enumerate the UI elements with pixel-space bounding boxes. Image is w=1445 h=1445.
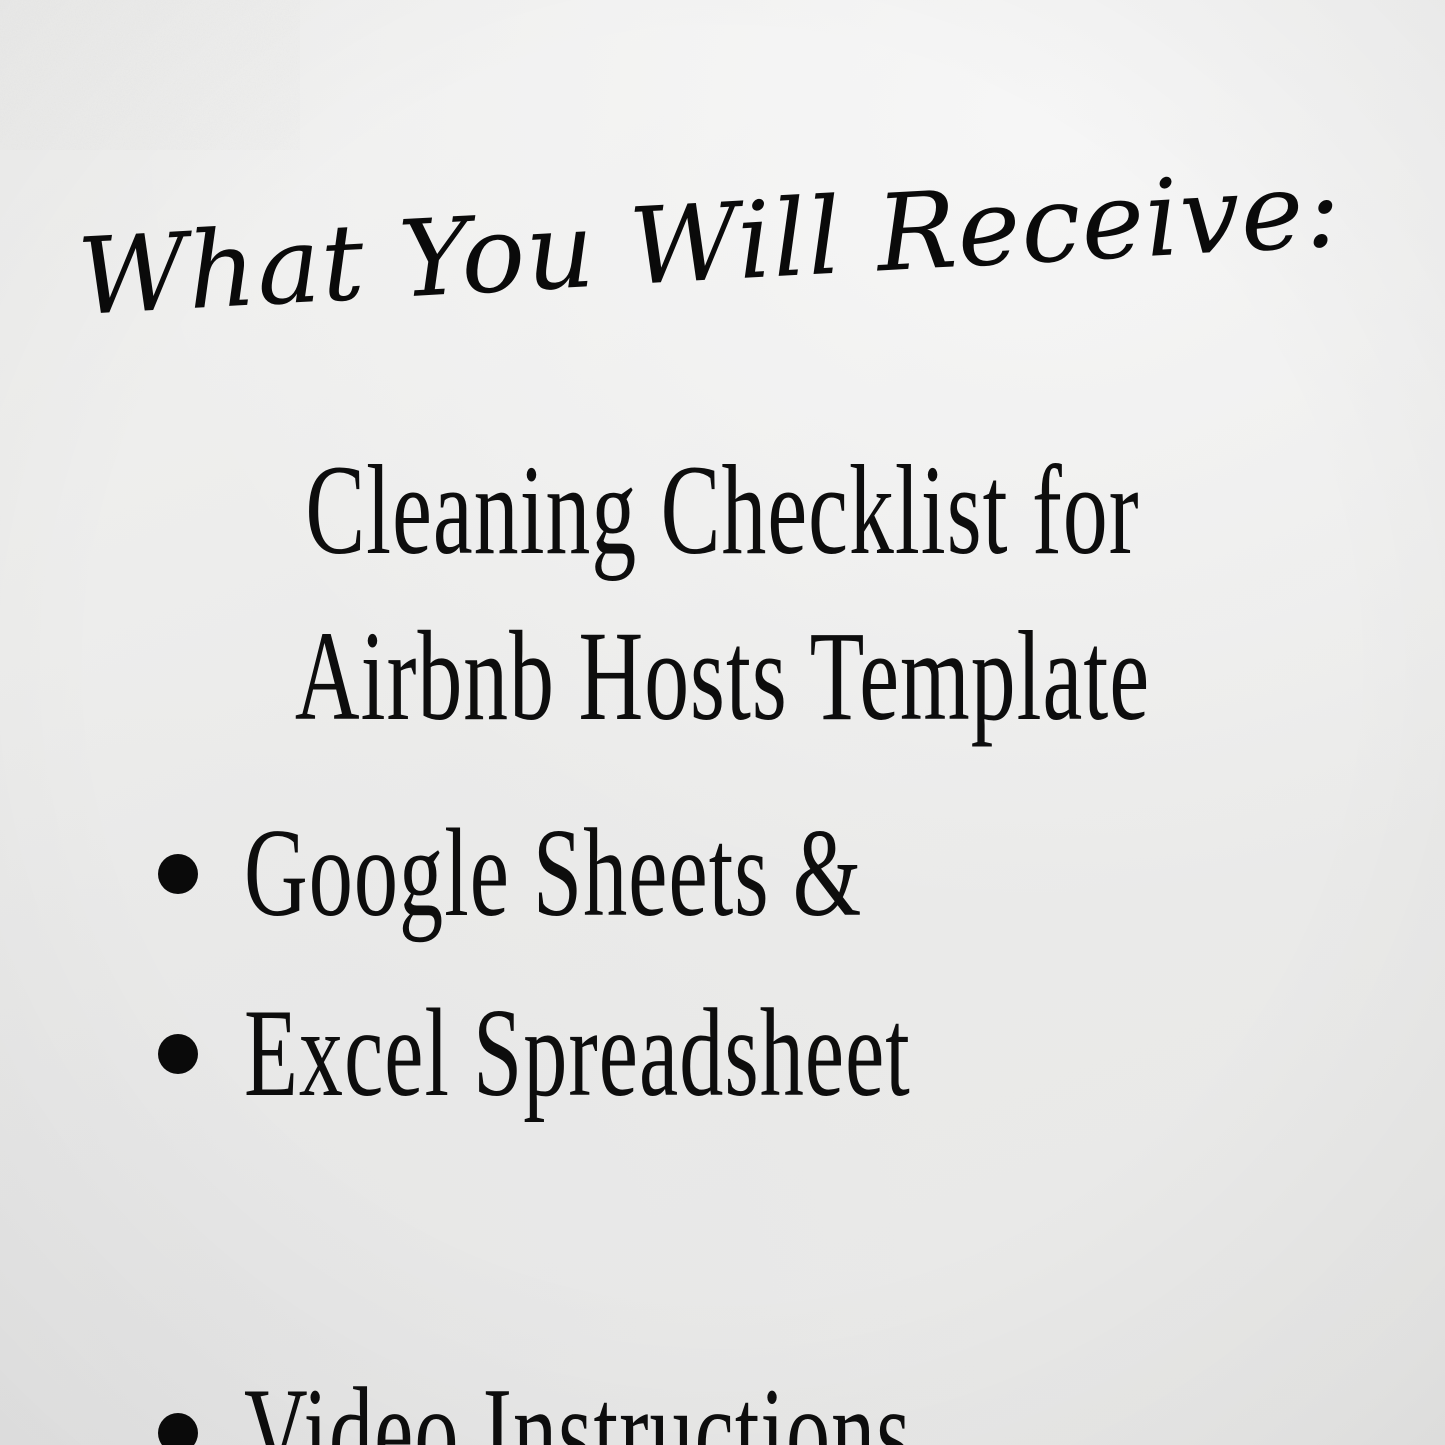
list-item: Excel Spreadsheet — [158, 988, 1445, 1120]
script-heading: What You Will Receive: — [72, 118, 1372, 348]
bullet-dot-icon — [158, 854, 198, 894]
bullet-dot-icon — [158, 1413, 198, 1445]
poster-canvas: What You Will Receive: Cleaning Checklis… — [0, 0, 1445, 1445]
bullet-dot-icon — [158, 1034, 198, 1074]
title-line-2: Airbnb Hosts Template — [217, 612, 1229, 740]
list-item-label: Google Sheets & — [244, 808, 862, 940]
list-item-label: Video Instructions — [244, 1367, 912, 1445]
content-block: Cleaning Checklist for Airbnb Hosts Temp… — [0, 430, 1445, 1445]
list-item-label: Excel Spreadsheet — [244, 988, 911, 1120]
list-item: Video Instructions — [158, 1367, 1445, 1445]
title-line-1: Cleaning Checklist for — [217, 446, 1229, 574]
heading-section: What You Will Receive: — [0, 118, 1445, 368]
list-item: Google Sheets & — [158, 808, 1445, 940]
script-heading-text: What You Will Receive: — [75, 147, 1345, 339]
